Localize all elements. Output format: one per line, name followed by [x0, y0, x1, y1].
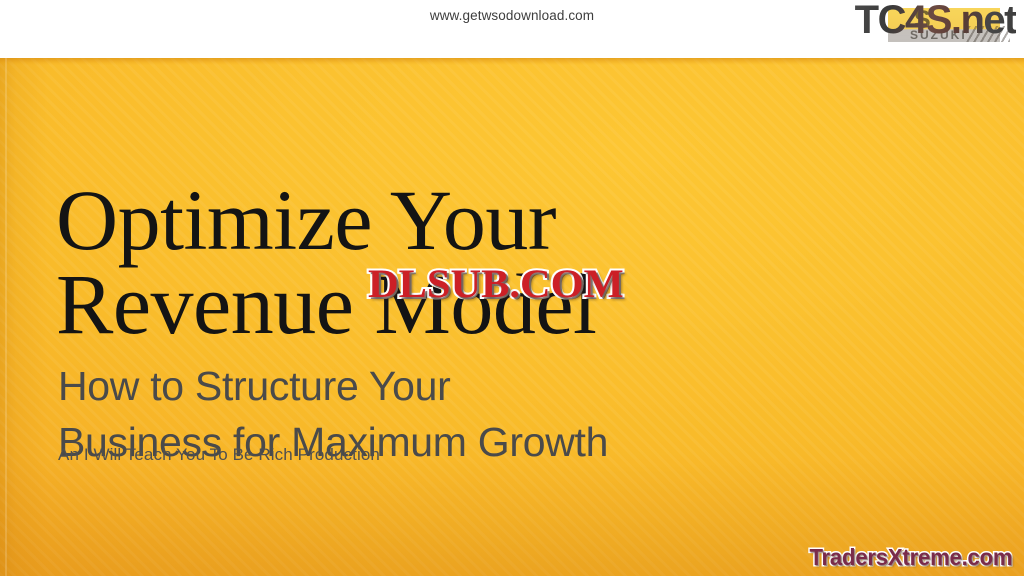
presentation-slide: Optimize Your Revenue Model DLSUB.COM Ho…: [0, 58, 1024, 576]
slide-left-rule: [5, 58, 7, 576]
slide-screenshot: www.getwsodownload.com S SUZUKI TC4S.net…: [0, 0, 1024, 576]
slide-title-line-1: Optimize Your: [56, 178, 756, 262]
slide-top-band: [0, 58, 1024, 65]
slide-credit-line: An I Will Teach You To Be Rich Productio…: [58, 445, 380, 465]
tradersxtreme-watermark: TradersXtreme.com: [809, 544, 1012, 570]
logo-text: TC4S.net: [855, 0, 1016, 43]
tc4s-net-logo[interactable]: S SUZUKI TC4S.net: [818, 0, 1018, 52]
dlsub-watermark: DLSUB.COM: [368, 264, 624, 304]
slide-subtitle-line-1: How to Structure Your: [58, 358, 798, 414]
